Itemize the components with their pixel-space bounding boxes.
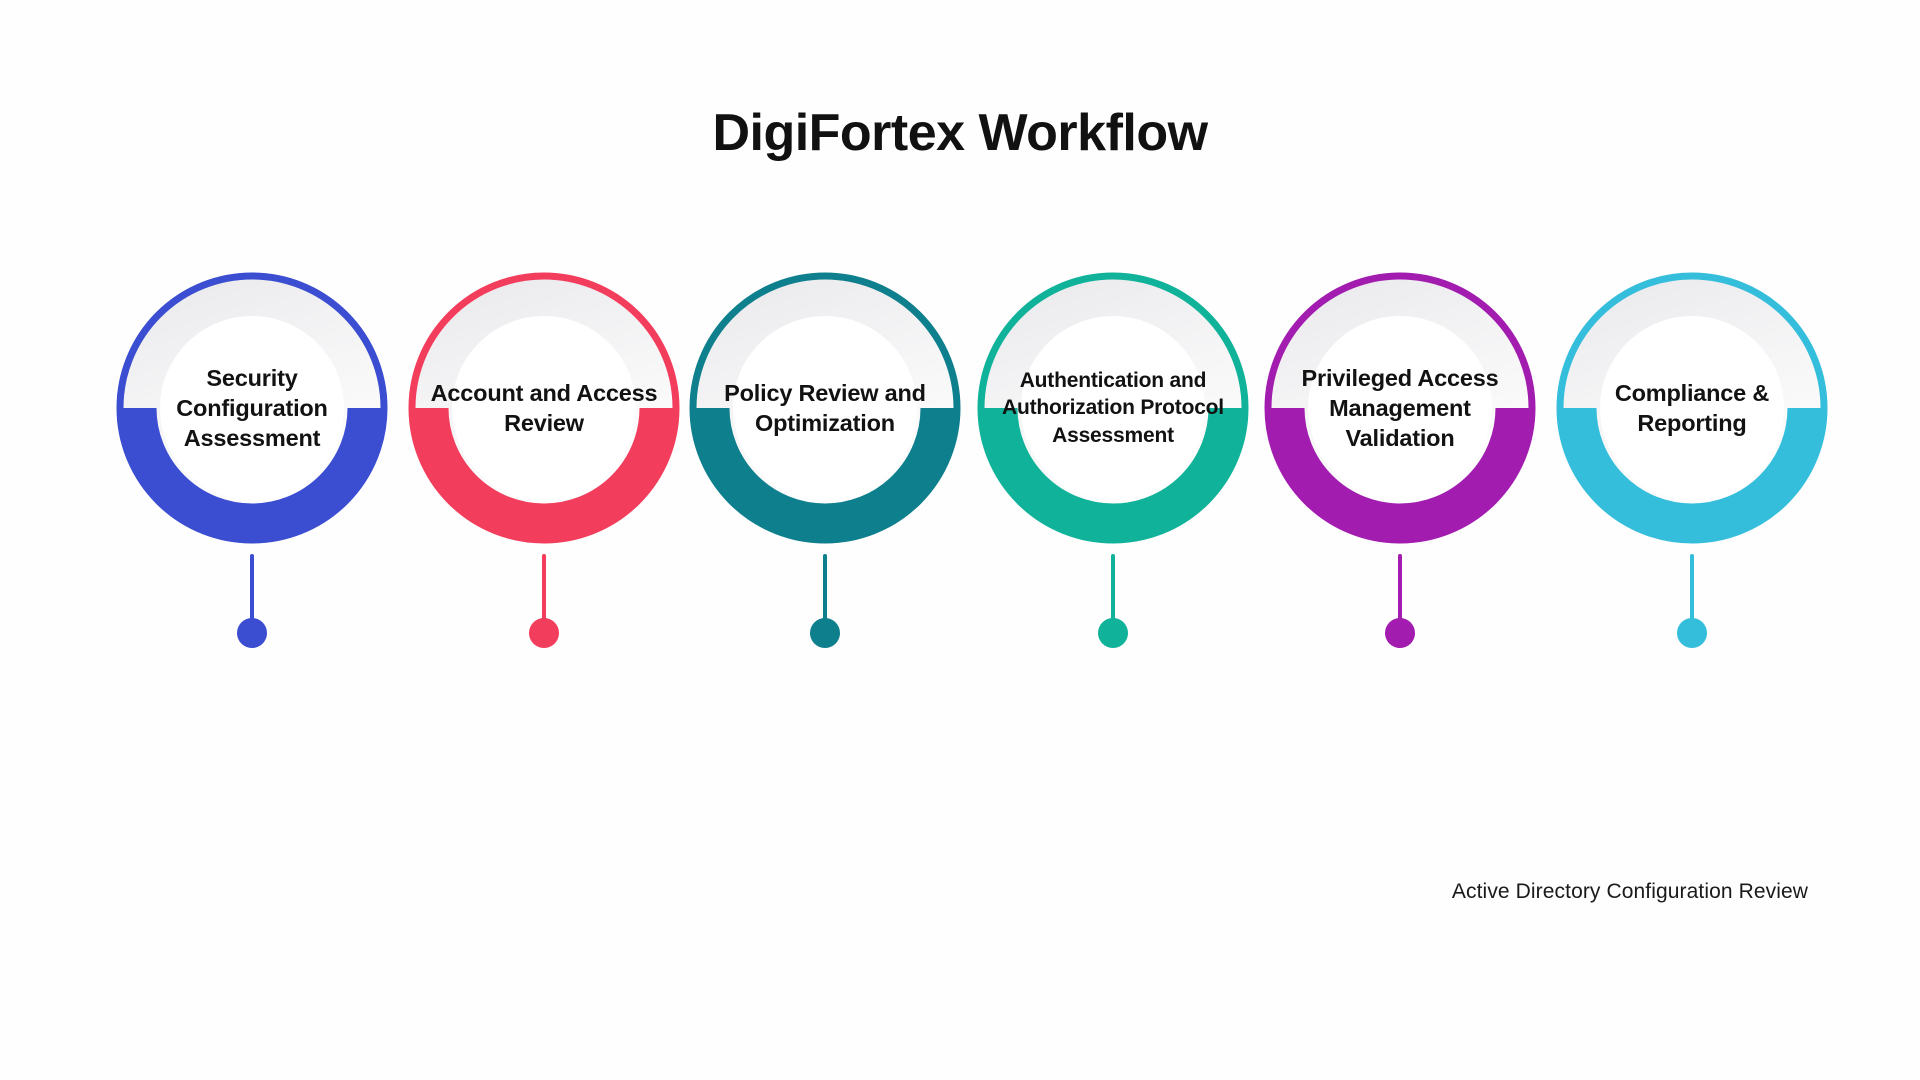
workflow-steps-container: Security Configuration AssessmentAccount… bbox=[0, 0, 1920, 1080]
workflow-step-3[interactable]: Policy Review and Optimization bbox=[679, 262, 971, 554]
ring-graphic bbox=[398, 262, 690, 554]
connector-dot-5[interactable] bbox=[1385, 618, 1415, 648]
step-ring-3 bbox=[679, 262, 971, 554]
footer-caption: Active Directory Configuration Review bbox=[1440, 880, 1820, 904]
connector-dot-6[interactable] bbox=[1677, 618, 1707, 648]
connector-dot-1[interactable] bbox=[237, 618, 267, 648]
step-ring-4 bbox=[967, 262, 1259, 554]
step-ring-6 bbox=[1546, 262, 1838, 554]
step-ring-1 bbox=[106, 262, 398, 554]
ring-graphic bbox=[1546, 262, 1838, 554]
workflow-step-1[interactable]: Security Configuration Assessment bbox=[106, 262, 398, 554]
ring-graphic bbox=[679, 262, 971, 554]
connector-dot-2[interactable] bbox=[529, 618, 559, 648]
diagram-canvas: DigiFortex Workflow Security Configurati… bbox=[0, 0, 1920, 1080]
step-ring-2 bbox=[398, 262, 690, 554]
workflow-step-4[interactable]: Authentication and Authorization Protoco… bbox=[967, 262, 1259, 554]
workflow-step-2[interactable]: Account and Access Review bbox=[398, 262, 690, 554]
workflow-step-5[interactable]: Privileged Access Management Validation bbox=[1254, 262, 1546, 554]
step-ring-5 bbox=[1254, 262, 1546, 554]
workflow-step-6[interactable]: Compliance & Reporting bbox=[1546, 262, 1838, 554]
ring-graphic bbox=[1254, 262, 1546, 554]
ring-graphic bbox=[967, 262, 1259, 554]
connector-dot-4[interactable] bbox=[1098, 618, 1128, 648]
ring-graphic bbox=[106, 262, 398, 554]
connector-dot-3[interactable] bbox=[810, 618, 840, 648]
